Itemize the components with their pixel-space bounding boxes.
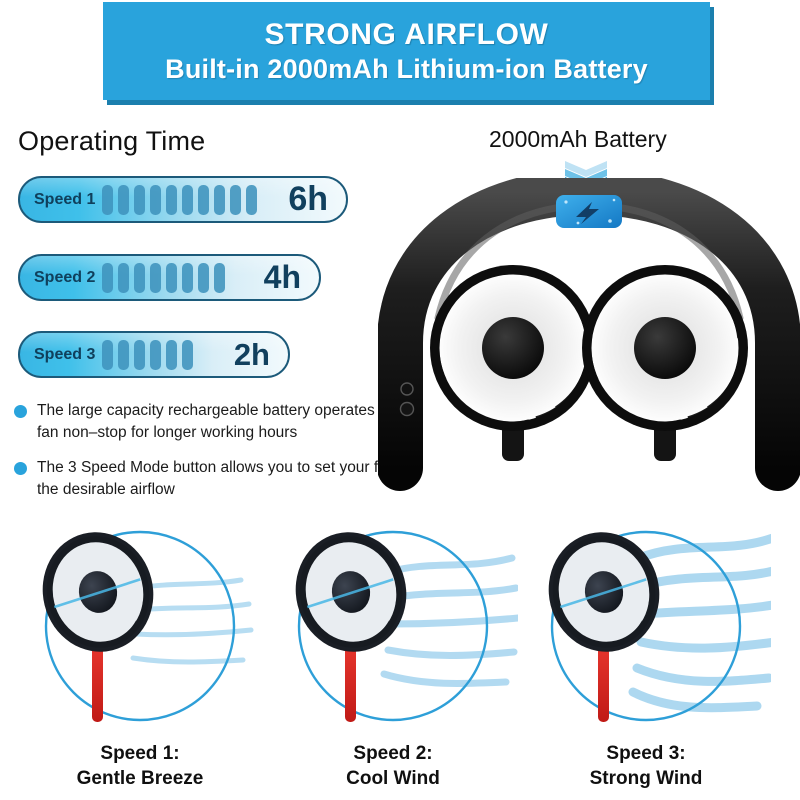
- battery-bar: [230, 185, 241, 215]
- speed-label: Speed 2: [20, 269, 102, 287]
- feature-bullet-list: The large capacity rechargeable battery …: [14, 400, 414, 514]
- speed-panel-3: Speed 3: Strong Wind: [521, 510, 771, 791]
- battery-bar: [118, 263, 129, 293]
- battery-bar: [102, 263, 113, 293]
- speed-description: Strong Wind: [521, 767, 771, 792]
- duration-value: 4h: [264, 259, 319, 296]
- speed-label: Speed 3: [20, 346, 102, 364]
- battery-bar: [214, 263, 225, 293]
- speed-2-illustration: [268, 510, 518, 742]
- battery-bar: [246, 185, 257, 215]
- speed-title: Speed 3:: [521, 742, 771, 767]
- battery-bar: [150, 185, 161, 215]
- battery-bar: [134, 263, 145, 293]
- battery-bar: [182, 263, 193, 293]
- speed-description: Cool Wind: [268, 767, 518, 792]
- battery-bar: [182, 185, 193, 215]
- battery-bar: [198, 185, 209, 215]
- speed-label: Speed 1: [20, 191, 102, 209]
- battery-bar-group: [102, 185, 257, 215]
- battery-bar: [166, 340, 177, 370]
- speed-panel-1: Speed 1: Gentle Breeze: [15, 510, 265, 791]
- speed-description: Gentle Breeze: [15, 767, 265, 792]
- battery-bar: [166, 185, 177, 215]
- speed-caption: Speed 1: Gentle Breeze: [15, 742, 265, 791]
- battery-bar: [102, 340, 113, 370]
- power-button: [401, 383, 413, 395]
- battery-bar: [118, 185, 129, 215]
- banner-subtitle: Built-in 2000mAh Lithium-ion Battery: [165, 54, 648, 85]
- battery-bar: [198, 263, 209, 293]
- battery-callout-label: 2000mAh Battery: [489, 126, 667, 153]
- battery-bar: [150, 340, 161, 370]
- fan-head-left: [430, 265, 596, 431]
- battery-bar: [118, 340, 129, 370]
- speed-caption: Speed 2: Cool Wind: [268, 742, 518, 791]
- airflow-lines: [384, 558, 518, 684]
- battery-bar: [102, 185, 113, 215]
- list-item: The large capacity rechargeable battery …: [14, 400, 414, 445]
- bullet-dot-icon: [14, 462, 27, 475]
- banner-title: STRONG AIRFLOW: [265, 18, 549, 52]
- speed-3-illustration: [521, 510, 771, 742]
- operating-time-heading: Operating Time: [18, 126, 205, 157]
- airflow-lines: [633, 538, 771, 708]
- speed-mode-panels: Speed 1: Gentle Breeze: [0, 510, 800, 800]
- operating-time-row-speed-3: Speed 3 2h: [18, 331, 290, 378]
- product-image-neckband-fan: [378, 178, 800, 508]
- speed-title: Speed 1:: [15, 742, 265, 767]
- fan-head-right: [582, 265, 748, 431]
- battery-bar-group: [102, 263, 225, 293]
- speed-panel-2: Speed 2: Cool Wind: [268, 510, 518, 791]
- speed-mode-button: [401, 403, 414, 416]
- duration-value: 6h: [288, 180, 346, 219]
- bullet-text: The 3 Speed Mode button allows you to se…: [37, 457, 414, 502]
- battery-bar-group: [102, 340, 193, 370]
- duration-value: 2h: [234, 337, 288, 373]
- battery-bar: [134, 340, 145, 370]
- speed-title: Speed 2:: [268, 742, 518, 767]
- header-banner: STRONG AIRFLOW Built-in 2000mAh Lithium-…: [103, 2, 710, 100]
- battery-bar: [214, 185, 225, 215]
- list-item: The 3 Speed Mode button allows you to se…: [14, 457, 414, 502]
- battery-bar: [150, 263, 161, 293]
- operating-time-row-speed-2: Speed 2 4h: [18, 254, 321, 301]
- battery-bar: [134, 185, 145, 215]
- speed-caption: Speed 3: Strong Wind: [521, 742, 771, 791]
- operating-time-row-speed-1: Speed 1 6h: [18, 176, 348, 223]
- battery-bar: [166, 263, 177, 293]
- speed-1-illustration: [15, 510, 265, 742]
- bullet-text: The large capacity rechargeable battery …: [37, 400, 414, 445]
- bullet-dot-icon: [14, 405, 27, 418]
- battery-bar: [182, 340, 193, 370]
